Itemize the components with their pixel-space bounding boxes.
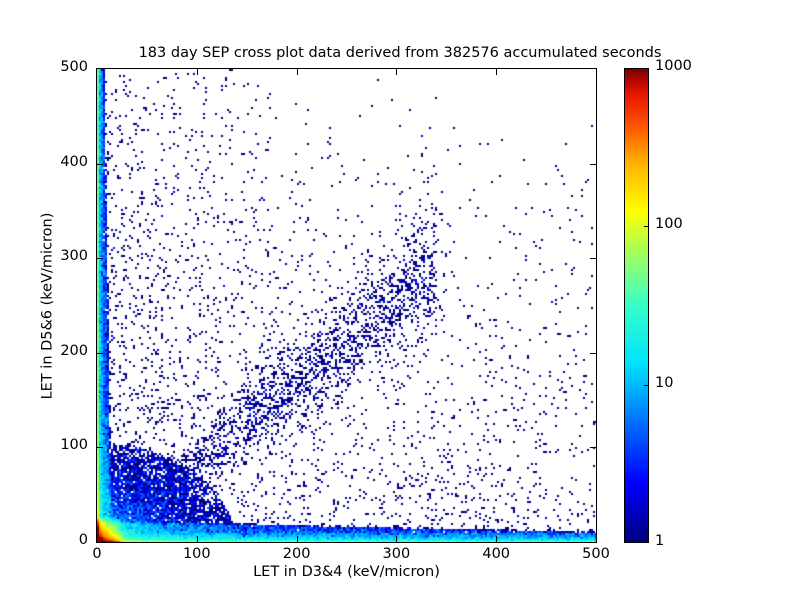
x-tick-label-300: 300	[366, 546, 426, 562]
y-tick-label-500: 500	[28, 59, 88, 75]
x-tick-bottom	[197, 536, 198, 542]
colorbar-tick-label-10: 10	[655, 375, 673, 391]
y-axis-label: LET in D5&6 (keV/micron)	[40, 69, 56, 544]
x-tick-label-200: 200	[267, 546, 327, 562]
colorbar-tick-label-1000: 1000	[655, 58, 692, 74]
y-tick-left	[97, 447, 103, 448]
x-tick-bottom	[297, 536, 298, 542]
y-tick-label-300: 300	[28, 248, 88, 264]
colorbar-gradient	[625, 69, 648, 542]
plot-area	[96, 68, 597, 543]
colorbar-tick-100	[644, 226, 649, 227]
y-tick-label-0: 0	[28, 532, 88, 548]
x-tick-top	[496, 69, 497, 75]
y-tick-left	[97, 258, 103, 259]
x-tick-top	[396, 69, 397, 75]
y-tick-left	[97, 353, 103, 354]
x-tick-bottom	[396, 536, 397, 542]
colorbar-tick-10	[644, 385, 649, 386]
x-tick-top	[197, 69, 198, 75]
x-tick-label-100: 100	[167, 546, 227, 562]
y-tick-right	[590, 258, 596, 259]
y-tick-right	[590, 164, 596, 165]
colorbar	[624, 68, 649, 543]
colorbar-tick-label-1: 1	[655, 533, 664, 549]
x-tick-label-500: 500	[566, 546, 626, 562]
x-tick-label-400: 400	[466, 546, 526, 562]
y-tick-right	[590, 353, 596, 354]
y-tick-left	[97, 164, 103, 165]
y-tick-label-400: 400	[28, 154, 88, 170]
x-tick-label-0: 0	[67, 546, 127, 562]
y-tick-label-100: 100	[28, 437, 88, 453]
scatter-density-canvas	[97, 69, 596, 542]
chart-figure: 183 day SEP cross plot data derived from…	[0, 0, 800, 600]
x-tick-top	[297, 69, 298, 75]
y-tick-right	[590, 447, 596, 448]
x-tick-bottom	[496, 536, 497, 542]
y-tick-label-200: 200	[28, 343, 88, 359]
x-axis-label: LET in D3&4 (keV/micron)	[96, 564, 597, 580]
colorbar-tick-label-100: 100	[655, 216, 683, 232]
